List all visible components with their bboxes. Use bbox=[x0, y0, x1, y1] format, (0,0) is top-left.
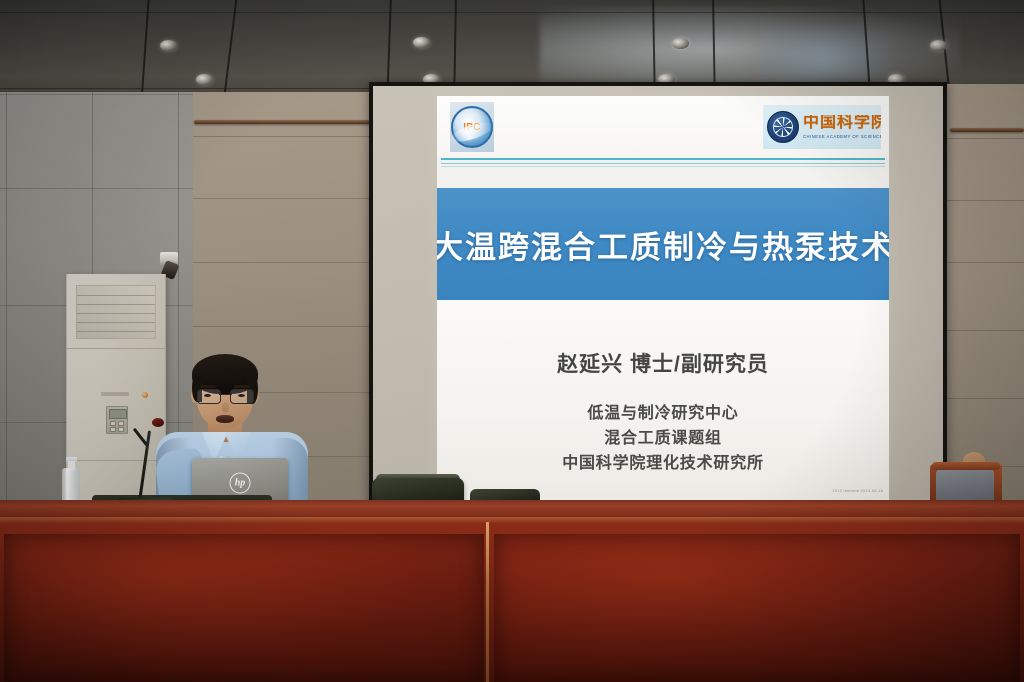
slide-header: IPC 中国科学院 CHINESE ACADEMY OF SCIENCES bbox=[437, 96, 889, 158]
slide-footnote: 2013 Institute 2013-08-16 bbox=[832, 488, 883, 494]
glasses-bridge bbox=[219, 394, 232, 395]
presenter-eyebrow bbox=[200, 385, 216, 388]
podium-panel-left bbox=[4, 534, 484, 682]
chair-top-rail bbox=[932, 462, 1000, 470]
header-rule-tertiary bbox=[441, 166, 885, 167]
wall-pipe bbox=[950, 128, 1024, 132]
tile-seam bbox=[0, 188, 196, 189]
presenter-eye bbox=[238, 394, 245, 397]
ceiling-seam bbox=[0, 12, 1024, 13]
ipc-logo: IPC bbox=[450, 102, 494, 152]
wall-panel-seam bbox=[945, 330, 1024, 331]
wall-panel-seam bbox=[945, 138, 1024, 139]
ac-control-panel[interactable] bbox=[106, 406, 128, 434]
ac-seam bbox=[67, 348, 165, 349]
wall-panel-seam bbox=[945, 200, 1024, 201]
cas-logo: 中国科学院 CHINESE ACADEMY OF SCIENCES bbox=[763, 105, 881, 149]
cas-emblem-icon bbox=[767, 111, 799, 143]
ac-brand-plate bbox=[101, 392, 129, 396]
downlight-icon bbox=[160, 40, 177, 51]
downlight-icon bbox=[672, 38, 689, 49]
downlight-icon bbox=[930, 40, 947, 51]
wall-pipe bbox=[194, 120, 380, 124]
wall-panel-seam bbox=[945, 262, 1024, 263]
presenter-mouth bbox=[216, 415, 234, 423]
photo-scene: IPC 中国科学院 CHINESE ACADEMY OF SCIENCES 大温… bbox=[0, 0, 1024, 682]
presenter-eyebrow bbox=[234, 385, 250, 388]
tile-seam bbox=[6, 92, 7, 520]
podium-panel-divider bbox=[486, 522, 489, 682]
header-rule-primary bbox=[441, 158, 885, 160]
cas-chinese-name: 中国科学院 bbox=[803, 115, 881, 132]
ceiling-seam bbox=[140, 0, 150, 96]
cas-english-name: CHINESE ACADEMY OF SCIENCES bbox=[803, 134, 881, 139]
tile-seam bbox=[0, 94, 196, 95]
presenter-nose bbox=[222, 402, 229, 412]
ceiling-seam bbox=[222, 0, 238, 96]
ac-button[interactable] bbox=[110, 427, 116, 432]
presenter-name-title: 赵延兴 博士/副研究员 bbox=[557, 348, 769, 378]
affiliation-line-2: 混合工质课题组 bbox=[604, 427, 722, 452]
cas-logo-text: 中国科学院 CHINESE ACADEMY OF SCIENCES bbox=[803, 115, 881, 139]
slide-title-band: 大温跨混合工质制冷与热泵技术 bbox=[437, 188, 889, 300]
ac-grille bbox=[76, 285, 156, 339]
wall-panel-seam bbox=[945, 398, 1024, 399]
downlight-icon bbox=[413, 37, 430, 48]
microphone-head-icon bbox=[152, 418, 164, 427]
ac-indicator-icon bbox=[142, 392, 148, 398]
ac-button[interactable] bbox=[118, 427, 124, 432]
header-rule-secondary bbox=[441, 163, 885, 164]
affiliation-line-3: 中国科学院理化技术研究所 bbox=[562, 452, 764, 477]
wall-panel-seam bbox=[193, 136, 379, 137]
wall-panel-seam bbox=[193, 326, 379, 327]
wall-panel-seam bbox=[193, 198, 379, 199]
projected-slide: IPC 中国科学院 CHINESE ACADEMY OF SCIENCES 大温… bbox=[437, 96, 889, 500]
podium-panel-right bbox=[494, 534, 1020, 682]
ipc-logo-icon: IPC bbox=[451, 106, 493, 148]
ac-button[interactable] bbox=[110, 421, 116, 426]
downlight-icon bbox=[196, 74, 213, 85]
affiliation-line-1: 低温与制冷研究中心 bbox=[587, 402, 738, 427]
ceiling-reflection bbox=[760, 28, 890, 88]
hp-logo-icon: hp bbox=[230, 473, 251, 494]
presenter-eye bbox=[204, 394, 211, 397]
wall-panel-seam bbox=[193, 262, 379, 263]
slide-body: 赵延兴 博士/副研究员 低温与制冷研究中心 混合工质课题组 中国科学院理化技术研… bbox=[437, 300, 889, 500]
desk-lip bbox=[0, 517, 1024, 524]
slide-title: 大温跨混合工质制冷与热泵技术 bbox=[437, 222, 889, 267]
ac-display bbox=[109, 409, 127, 419]
ac-button[interactable] bbox=[118, 421, 124, 426]
cas-star-icon bbox=[773, 117, 793, 137]
